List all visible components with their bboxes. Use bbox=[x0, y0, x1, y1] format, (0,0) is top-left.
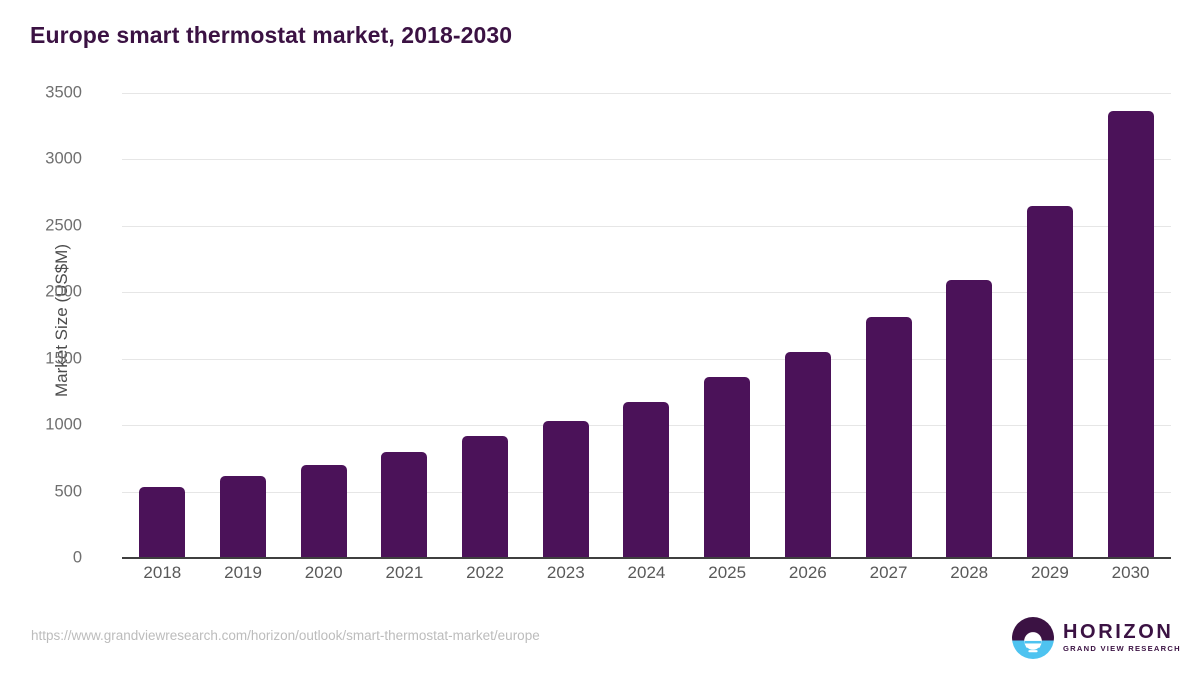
bar[interactable] bbox=[301, 465, 347, 558]
logo-subtitle: GRAND VIEW RESEARCH bbox=[1063, 645, 1181, 653]
page-title: Europe smart thermostat market, 2018-203… bbox=[30, 22, 512, 49]
bar[interactable] bbox=[1108, 111, 1154, 558]
x-axis-line bbox=[122, 557, 1171, 559]
bar-band bbox=[364, 93, 445, 558]
x-axis-tick-label: 2021 bbox=[364, 563, 445, 583]
bar[interactable] bbox=[785, 352, 831, 558]
bar-band bbox=[768, 93, 849, 558]
y-axis-tick-label: 500 bbox=[12, 482, 82, 501]
bar[interactable] bbox=[139, 487, 185, 558]
chart-page: Europe smart thermostat market, 2018-203… bbox=[0, 0, 1200, 675]
bar[interactable] bbox=[623, 402, 669, 558]
y-axis-tick-label: 3000 bbox=[12, 150, 82, 169]
bar[interactable] bbox=[704, 377, 750, 558]
bar-band bbox=[929, 93, 1010, 558]
y-axis-tick-label: 1500 bbox=[12, 349, 82, 368]
bar[interactable] bbox=[866, 317, 912, 558]
y-axis-tick-label: 3500 bbox=[12, 84, 82, 103]
bar-band bbox=[848, 93, 929, 558]
bar-band bbox=[606, 93, 687, 558]
y-axis-tick-label: 1000 bbox=[12, 416, 82, 435]
bar-band bbox=[525, 93, 606, 558]
x-axis-tick-label: 2022 bbox=[445, 563, 526, 583]
plot-area: 0500100015002000250030003500 bbox=[122, 93, 1171, 558]
bar-band bbox=[283, 93, 364, 558]
bar[interactable] bbox=[220, 476, 266, 558]
bar[interactable] bbox=[462, 436, 508, 558]
bar[interactable] bbox=[946, 280, 992, 558]
y-axis-tick-label: 0 bbox=[12, 549, 82, 568]
x-axis-tick-label: 2019 bbox=[203, 563, 284, 583]
bar-series bbox=[122, 93, 1171, 558]
source-url[interactable]: https://www.grandviewresearch.com/horizo… bbox=[31, 628, 540, 643]
logo-wordmark: HORIZON GRAND VIEW RESEARCH bbox=[1063, 622, 1181, 653]
logo-name: HORIZON bbox=[1063, 622, 1181, 643]
y-axis-tick-label: 2000 bbox=[12, 283, 82, 302]
x-axis-tick-label: 2027 bbox=[848, 563, 929, 583]
bar-band bbox=[687, 93, 768, 558]
x-axis-tick-label: 2029 bbox=[1010, 563, 1091, 583]
bar-band bbox=[122, 93, 203, 558]
x-axis-tick-label: 2025 bbox=[687, 563, 768, 583]
x-axis-tick-label: 2030 bbox=[1090, 563, 1171, 583]
x-axis-tick-label: 2018 bbox=[122, 563, 203, 583]
bar[interactable] bbox=[381, 452, 427, 558]
x-axis-tick-label: 2023 bbox=[525, 563, 606, 583]
brand-logo[interactable]: HORIZON GRAND VIEW RESEARCH bbox=[1012, 617, 1181, 659]
x-axis-ticks: 2018201920202021202220232024202520262027… bbox=[122, 563, 1171, 583]
bar[interactable] bbox=[1027, 206, 1073, 558]
x-axis-tick-label: 2026 bbox=[768, 563, 849, 583]
x-axis-tick-label: 2024 bbox=[606, 563, 687, 583]
bar-band bbox=[1010, 93, 1091, 558]
bar[interactable] bbox=[543, 421, 589, 558]
y-axis-tick-label: 2500 bbox=[12, 216, 82, 235]
horizon-mark-icon bbox=[1012, 617, 1054, 659]
bar-band bbox=[203, 93, 284, 558]
bar-band bbox=[445, 93, 526, 558]
x-axis-tick-label: 2028 bbox=[929, 563, 1010, 583]
bar-band bbox=[1090, 93, 1171, 558]
x-axis-tick-label: 2020 bbox=[283, 563, 364, 583]
